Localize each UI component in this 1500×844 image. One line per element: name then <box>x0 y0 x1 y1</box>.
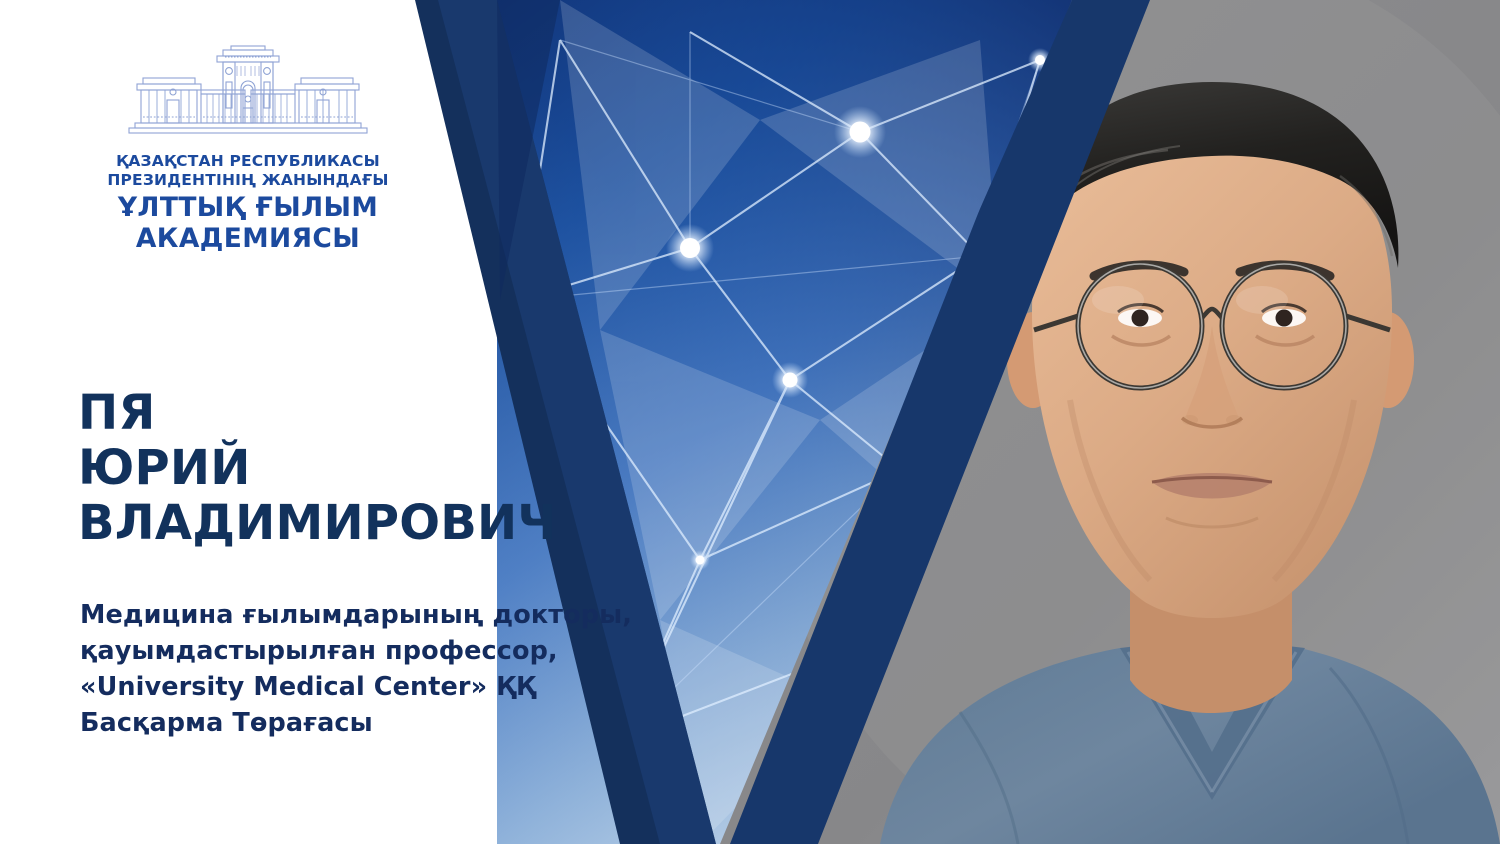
person-surname: ПЯ <box>78 386 678 441</box>
logo-line-2: ПРЕЗИДЕНТІНІҢ ЖАНЫНДАҒЫ <box>78 171 418 190</box>
logo-line-3: ҰЛТТЫҚ ҒЫЛЫМ <box>78 192 418 223</box>
person-description: Медицина ғылымдарының докторы, қауымдаст… <box>80 597 740 741</box>
poster-root: ҚАЗАҚСТАН РЕСПУБЛИКАСЫ ПРЕЗИДЕНТІНІҢ ЖАН… <box>0 0 1500 844</box>
academy-logo-text: ҚАЗАҚСТАН РЕСПУБЛИКАСЫ ПРЕЗИДЕНТІНІҢ ЖАН… <box>78 152 418 254</box>
left-content-column: ҚАЗАҚСТАН РЕСПУБЛИКАСЫ ПРЕЗИДЕНТІНІҢ ЖАН… <box>0 0 720 844</box>
logo-line-4: АКАДЕМИЯСЫ <box>78 223 418 254</box>
academy-building-icon <box>117 44 379 142</box>
person-given-name: ЮРИЙ <box>78 441 678 496</box>
description-line-2: қауымдастырылған профессор, <box>80 633 740 669</box>
description-line-3: «University Medical Center» ҚҚ <box>80 669 740 705</box>
academy-logo: ҚАЗАҚСТАН РЕСПУБЛИКАСЫ ПРЕЗИДЕНТІНІҢ ЖАН… <box>78 44 418 254</box>
description-line-1: Медицина ғылымдарының докторы, <box>80 597 740 633</box>
person-name: ПЯ ЮРИЙ ВЛАДИМИРОВИЧ <box>78 386 678 551</box>
logo-line-1: ҚАЗАҚСТАН РЕСПУБЛИКАСЫ <box>78 152 418 171</box>
description-line-4: Басқарма Төрағасы <box>80 705 740 741</box>
person-patronymic: ВЛАДИМИРОВИЧ <box>78 496 678 551</box>
